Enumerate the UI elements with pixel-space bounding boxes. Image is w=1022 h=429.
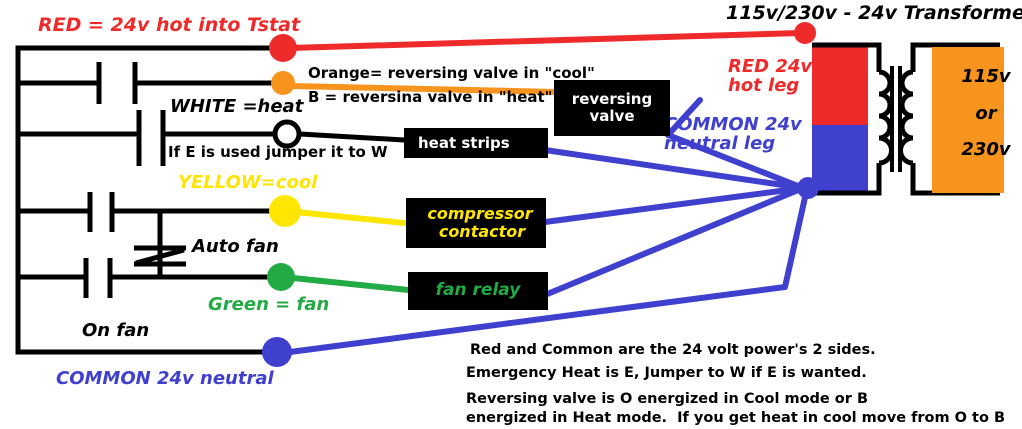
callout-green-fan: Green = fan: [208, 296, 329, 315]
auto-fan-switch: [134, 248, 186, 264]
terminal-G-dot: [267, 263, 295, 291]
note-line-3: Reversing valve is O energized in Cool m…: [466, 392, 868, 407]
terminal-Y-dot: [269, 195, 301, 227]
device-box-fan-relay: fan relay: [408, 272, 548, 310]
transformer-secondary-coil: [879, 72, 892, 163]
transformer-core: [892, 66, 900, 172]
transformer-title: 115v/230v - 24v Transformer: [726, 4, 1022, 24]
callout-orange-cool: Orange= reversing valve in "cool": [308, 66, 595, 82]
transformer-common-node-dot: [797, 177, 819, 199]
device-box-compressor-contactor: compressor contactor: [406, 198, 546, 248]
transformer-primary-voltage-1: or: [956, 105, 1016, 124]
callout-common-neutral: COMMON 24v neutral: [56, 370, 274, 389]
wire-green-to-fan-relay: [293, 278, 418, 291]
transformer-secondary-hot: [812, 47, 868, 125]
device-label-reversing-valve-line-1: valve: [590, 108, 635, 125]
transformer-primary-coil: [901, 72, 914, 163]
note-line-2: Emergency Heat is E, Jumper to W if E is…: [466, 366, 867, 381]
note-line-1: Red and Common are the 24 volt power's 2…: [470, 343, 876, 358]
device-box-heat-strips: heat strips: [404, 128, 548, 158]
callout-red-hot-leg: RED 24v hot leg: [728, 58, 812, 96]
note-line-4: energized in Heat mode. If you get heat …: [466, 411, 1005, 426]
device-label-reversing-valve-line-0: reversing: [572, 91, 652, 108]
common-wire-heat-strips: [545, 150, 803, 188]
device-label-heat-strips: heat strips: [418, 135, 510, 152]
callout-common-neutral-leg: COMMON 24v neutral leg: [664, 116, 802, 154]
device-label-fan-relay: fan relay: [436, 281, 521, 300]
callout-red-hot: RED = 24v hot into Tstat: [38, 16, 300, 36]
wire-red-to-transformer: [290, 33, 800, 48]
callout-white-heat: WHITE =heat: [170, 98, 303, 117]
transformer-primary-voltage-0: 115v: [956, 68, 1016, 87]
callout-auto-fan: Auto fan: [192, 238, 279, 257]
transformer-primary-voltage-2: 230v: [956, 141, 1016, 160]
transformer-secondary-neutral: [812, 125, 868, 193]
callout-yellow-cool: YELLOW=cool: [178, 174, 317, 193]
wire-white-to-heat-strips: [300, 134, 404, 140]
terminal-C-dot: [262, 337, 292, 367]
callout-jumper-note: If E is used jumper it to W: [168, 145, 388, 161]
callout-on-fan: On fan: [82, 322, 149, 341]
terminal-R-dot: [269, 34, 297, 62]
terminal-O-dot: [271, 71, 295, 95]
device-label-compressor-line-0: compressor: [427, 205, 532, 223]
callout-orange-heat: B = reversina valve in "heat": [308, 90, 553, 106]
wire-yellow-to-compressor: [296, 212, 414, 224]
device-box-reversing-valve: reversing valve: [554, 80, 670, 136]
transformer-hot-node-dot: [794, 22, 816, 44]
wiring-diagram-canvas: RED = 24v hot into Tstat Orange= reversi…: [0, 0, 1022, 429]
device-label-compressor-line-1: contactor: [439, 223, 525, 241]
